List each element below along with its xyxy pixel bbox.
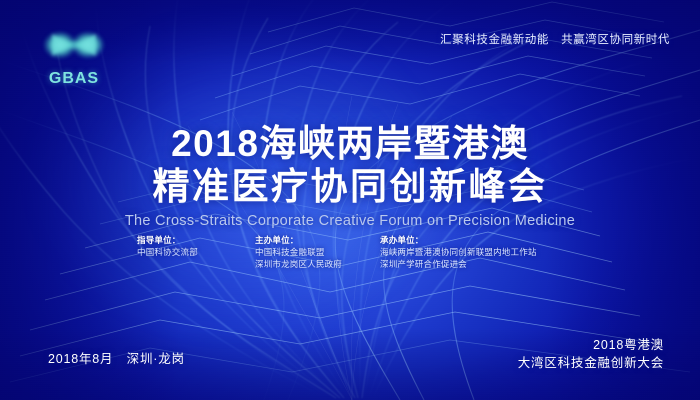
title-block: 2018海峡两岸暨港澳 精准医疗协同创新峰会 The Cross-Straits…: [0, 122, 700, 229]
title-line-1: 2018海峡两岸暨港澳: [0, 122, 700, 165]
gbas-logo-text: GBAS: [38, 70, 110, 88]
organizer-item: 中国科技金融联盟: [255, 246, 380, 258]
organizer-column-undertaker: 承办单位： 海峡两岸暨港澳协同创新联盟内地工作站 深圳产学研合作促进会: [380, 234, 537, 270]
gbas-logo-mark-icon: [38, 26, 110, 68]
footer-event-series-line-1: 2018粤港澳: [518, 336, 664, 354]
organizers-section: 指导单位： 中国科协交流部 主办单位： 中国科技金融联盟 深圳市龙岗区人民政府 …: [0, 234, 700, 270]
conference-poster: GBAS 汇聚科技金融新动能 共赢湾区协同新时代 2018海峡两岸暨港澳 精准医…: [0, 0, 700, 400]
organizer-heading: 主办单位：: [255, 234, 380, 246]
organizer-heading: 指导单位：: [137, 234, 255, 246]
title-line-2: 精准医疗协同创新峰会: [0, 165, 700, 208]
footer-event-series-line-2: 大湾区科技金融创新大会: [518, 354, 664, 372]
footer-date-location: 2018年8月 深圳·龙岗: [48, 348, 185, 367]
slogan-text: 汇聚科技金融新动能 共赢湾区协同新时代: [440, 31, 670, 47]
organizer-column-guidance: 指导单位： 中国科协交流部: [137, 234, 255, 270]
footer-event-series: 2018粤港澳 大湾区科技金融创新大会: [518, 336, 664, 372]
subtitle-english: The Cross-Straits Corporate Creative For…: [0, 213, 700, 229]
organizer-item: 海峡两岸暨港澳协同创新联盟内地工作站: [380, 246, 537, 258]
organizer-column-host: 主办单位： 中国科技金融联盟 深圳市龙岗区人民政府: [255, 234, 380, 270]
organizer-item: 深圳市龙岗区人民政府: [255, 258, 380, 270]
organizer-item: 中国科协交流部: [137, 246, 255, 258]
gbas-logo: GBAS: [38, 26, 110, 88]
organizer-item: 深圳产学研合作促进会: [380, 258, 537, 270]
organizer-heading: 承办单位：: [380, 234, 537, 246]
